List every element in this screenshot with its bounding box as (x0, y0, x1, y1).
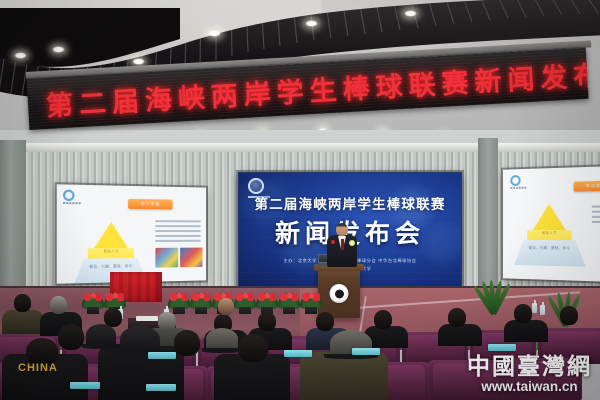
audience-head (174, 330, 200, 356)
lapel-pin-icon (331, 240, 335, 244)
slide-section-badge: 中小学部 (574, 180, 600, 191)
audience-head (238, 334, 268, 362)
slide-photo-collage (155, 248, 202, 268)
pyramid-top-label: 竞技人才 (88, 249, 134, 254)
audience-head (58, 324, 84, 350)
audience-head (158, 312, 176, 331)
audience-head (374, 310, 392, 329)
projection-screen-right: 中小学部 竞技人才 普及、兴趣、基础、参与 (503, 166, 600, 282)
audience-seat (502, 358, 582, 400)
audience-head (218, 298, 234, 315)
slide-crest-icon (63, 190, 84, 204)
audience-seat (428, 360, 504, 400)
seat-name-tag (284, 350, 312, 357)
baseball-cap (120, 326, 160, 352)
slide-body-text (155, 220, 200, 242)
ceiling-downlight (14, 52, 27, 59)
seat-name-tag (148, 352, 176, 359)
slide-crest-icon (510, 175, 529, 188)
boutonniere-icon (349, 240, 355, 246)
projection-screen-left: 中小学部 竞技人才 普及、兴趣、基础、参与 (57, 184, 206, 283)
event-title: 第二届海峡两岸学生棒球联赛 (239, 193, 461, 213)
ceiling-downlight (132, 58, 145, 65)
audience-head (560, 306, 578, 325)
speaker-person (327, 223, 357, 271)
pyramid-base-label: 普及、兴趣、基础、参与 (514, 245, 586, 251)
seat-name-tag (352, 348, 380, 355)
pyramid-top-label: 竞技人才 (527, 231, 572, 236)
seat-name-tag (146, 384, 176, 391)
audience-head (50, 296, 67, 314)
audience-head (514, 304, 532, 323)
audience-torso (300, 352, 388, 400)
audience-seating: CHINA (0, 300, 600, 400)
ceiling-downlight (404, 10, 417, 17)
jacket-text-china: CHINA (18, 362, 58, 374)
audience-head (14, 294, 31, 312)
audience-head (258, 312, 276, 331)
pyramid-base-label: 普及、兴趣、基础、参与 (73, 264, 147, 270)
ceiling-downlight (52, 46, 65, 53)
audience-head (448, 308, 466, 327)
slide-section-badge: 中小学部 (128, 199, 172, 210)
press-conference-photo: 第二届海峡两岸学生棒球联赛新闻发布会 中小学部 竞技人才 普及、兴趣、基础、参与… (0, 0, 600, 400)
audience-torso (438, 324, 482, 346)
slide-body-text (592, 205, 600, 224)
ceiling-downlight (208, 30, 221, 37)
ceiling-downlight (305, 20, 318, 27)
audience-torso (504, 320, 548, 342)
audience-head (316, 312, 334, 331)
seat-name-tag (70, 382, 100, 389)
audience-torso (2, 310, 44, 334)
baseball-cap (86, 324, 116, 346)
wall-pillar-right (478, 138, 498, 288)
baseball-cap (206, 328, 238, 350)
slide-pyramid-chart: 竞技人才 普及、兴趣、基础、参与 (514, 204, 586, 267)
seat-name-tag (488, 344, 516, 351)
